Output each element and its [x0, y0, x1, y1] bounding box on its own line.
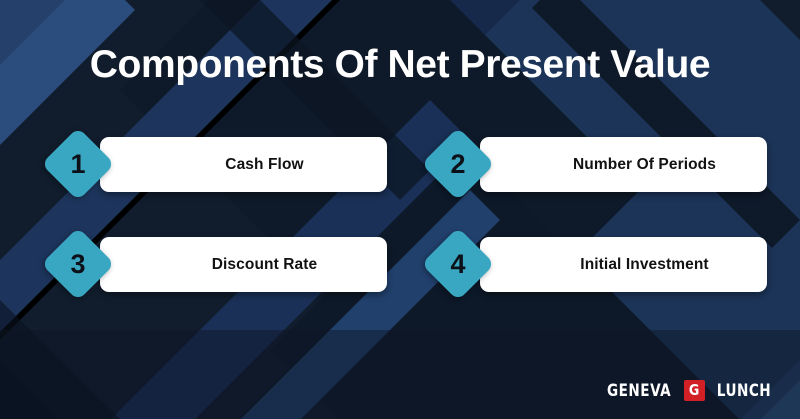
- component-item-2[interactable]: Number Of Periods 2: [422, 128, 767, 200]
- component-label-2: Number Of Periods: [573, 156, 716, 174]
- brand-logo-word-left: GENEVA: [607, 381, 671, 401]
- brand-logo-mark-glyph: G: [689, 383, 699, 398]
- brand-logo-mark-icon: G: [684, 380, 705, 401]
- title-container: Components Of Net Present Value: [0, 42, 800, 88]
- infographic-canvas: Components Of Net Present Value Cash Flo…: [0, 0, 800, 419]
- component-bar-2: Number Of Periods: [480, 137, 767, 192]
- brand-logo[interactable]: GENEVA G LUNCH: [599, 380, 778, 401]
- page-title: Components Of Net Present Value: [90, 42, 710, 88]
- components-row-1: Cash Flow 1 Number Of Periods 2: [0, 128, 800, 228]
- component-bar-1: Cash Flow: [100, 137, 387, 192]
- component-bar-3: Discount Rate: [100, 237, 387, 292]
- component-item-4[interactable]: Initial Investment 4: [422, 228, 767, 300]
- component-item-1[interactable]: Cash Flow 1: [42, 128, 387, 200]
- component-label-1: Cash Flow: [225, 156, 303, 174]
- components-row-2: Discount Rate 3 Initial Investment 4: [0, 228, 800, 328]
- brand-logo-word-right: LUNCH: [717, 381, 771, 401]
- component-label-4: Initial Investment: [580, 256, 708, 274]
- component-label-3: Discount Rate: [212, 256, 318, 274]
- component-item-3[interactable]: Discount Rate 3: [42, 228, 387, 300]
- component-bar-4: Initial Investment: [480, 237, 767, 292]
- components-list: Cash Flow 1 Number Of Periods 2 Discount…: [0, 128, 800, 328]
